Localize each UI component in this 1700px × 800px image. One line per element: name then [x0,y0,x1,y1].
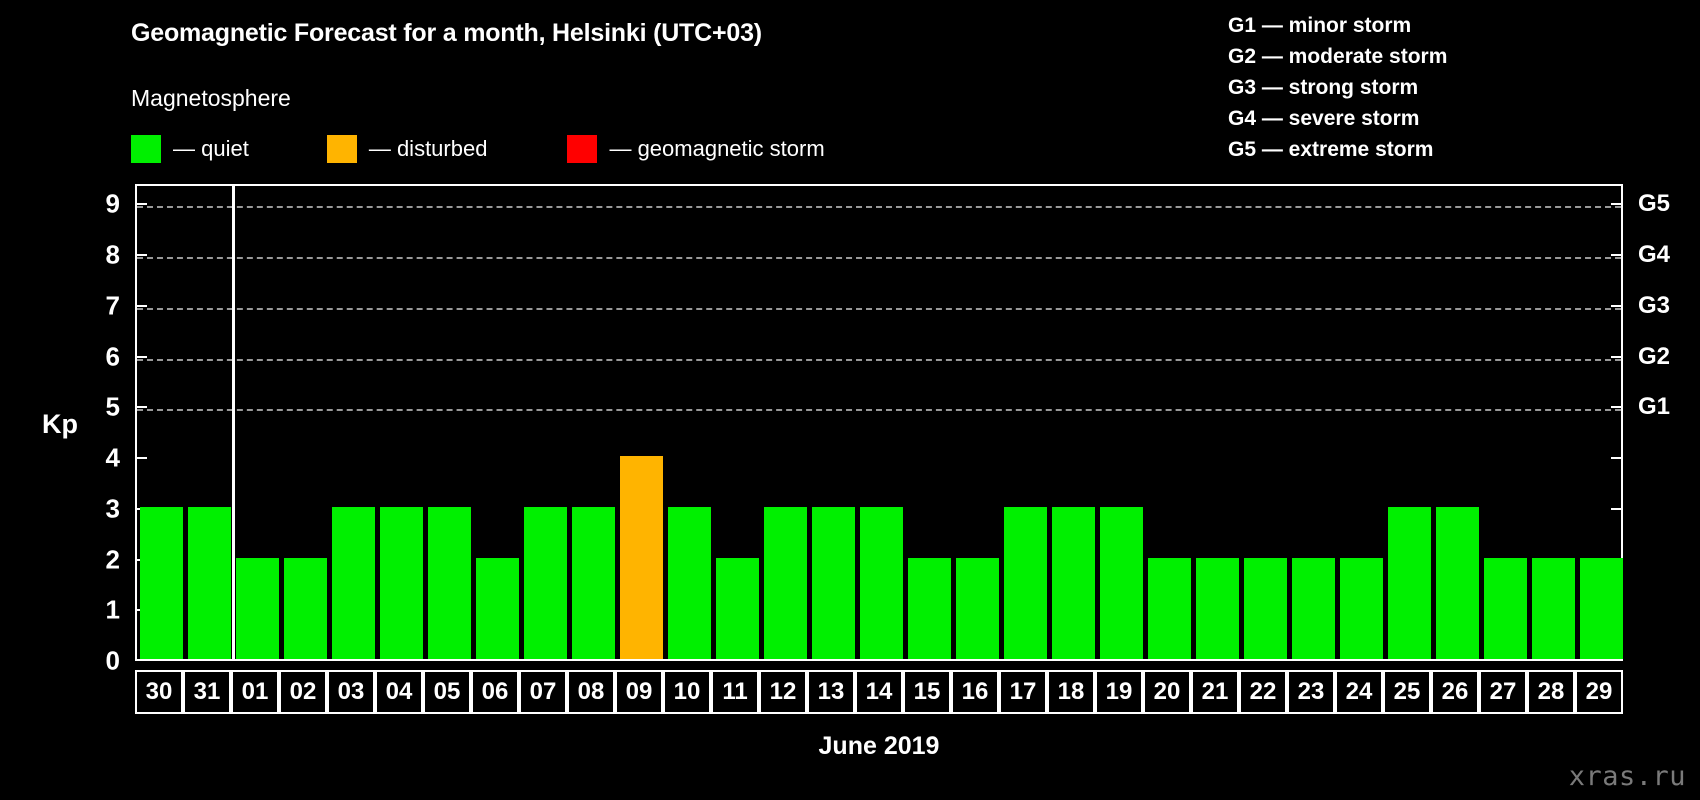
bar-day-13 [812,507,855,659]
bar-day-03 [332,507,375,659]
bar-day-26 [1436,507,1479,659]
y-axis-labels: 0123456789 [80,184,120,661]
bar-day-09 [620,456,663,659]
gscale-legend-line-1: G1 — minor storm [1228,10,1447,41]
day-cell-29: 29 [1575,670,1623,714]
y-tick-label-0: 0 [84,646,120,677]
legend-swatch-quiet [131,135,161,163]
y-tick-label-5: 5 [84,392,120,423]
gscale-legend-line-4: G4 — severe storm [1228,103,1447,134]
day-cell-27: 27 [1479,670,1527,714]
day-cell-14: 14 [855,670,903,714]
y-tick-label-9: 9 [84,189,120,220]
magnetosphere-legend: — quiet— disturbed— geomagnetic storm [131,135,825,163]
y-tick-label-2: 2 [84,544,120,575]
legend-item-disturbed: — disturbed [327,135,488,163]
day-cell-26: 26 [1431,670,1479,714]
day-cell-31: 31 [183,670,231,714]
day-cell-05: 05 [423,670,471,714]
bar-day-12 [764,507,807,659]
bar-day-01 [236,558,279,659]
day-cell-24: 24 [1335,670,1383,714]
day-cell-11: 11 [711,670,759,714]
legend-label-geomagnetic-storm: — geomagnetic storm [609,136,824,162]
g-axis-labels: G1G2G3G4G5 [1638,184,1698,661]
day-cell-03: 03 [327,670,375,714]
day-cell-22: 22 [1239,670,1287,714]
page-title: Geomagnetic Forecast for a month, Helsin… [131,19,762,48]
legend-swatch-disturbed [327,135,357,163]
day-cell-30: 30 [135,670,183,714]
legend-label-quiet: — quiet [173,136,249,162]
bar-day-28 [1532,558,1575,659]
plot-area [135,184,1623,661]
bar-day-11 [716,558,759,659]
bar-day-07 [524,507,567,659]
g-tick-label-G3: G3 [1638,292,1670,320]
bar-day-17 [1004,507,1047,659]
bar-day-30 [140,507,183,659]
day-cell-09: 09 [615,670,663,714]
g-tick-label-G4: G4 [1638,241,1670,269]
legend-item-geomagnetic-storm: — geomagnetic storm [567,135,824,163]
watermark: xras.ru [1569,761,1686,792]
y-tick-label-4: 4 [84,443,120,474]
bar-day-29 [1580,558,1623,659]
gscale-legend-line-5: G5 — extreme storm [1228,134,1447,165]
y-tick-label-8: 8 [84,240,120,271]
day-cell-06: 06 [471,670,519,714]
y-axis-title: Kp [42,409,78,440]
bar-day-22 [1244,558,1287,659]
y-tick-label-6: 6 [84,341,120,372]
bar-day-08 [572,507,615,659]
bar-day-20 [1148,558,1191,659]
x-axis-title: June 2019 [135,732,1623,761]
chart-root: Geomagnetic Forecast for a month, Helsin… [0,0,1700,800]
legend-label-disturbed: — disturbed [369,136,488,162]
day-cell-19: 19 [1095,670,1143,714]
bar-day-15 [908,558,951,659]
g-tick-label-G5: G5 [1638,190,1670,218]
day-cell-28: 28 [1527,670,1575,714]
legend-item-quiet: — quiet [131,135,249,163]
day-cell-07: 07 [519,670,567,714]
bar-day-04 [380,507,423,659]
y-tick-label-3: 3 [84,493,120,524]
day-cell-01: 01 [231,670,279,714]
day-cell-15: 15 [903,670,951,714]
bar-day-10 [668,507,711,659]
bar-day-06 [476,558,519,659]
day-cell-04: 04 [375,670,423,714]
bar-day-05 [428,507,471,659]
legend-swatch-geomagnetic-storm [567,135,597,163]
bars-layer [137,186,1621,659]
bar-day-23 [1292,558,1335,659]
bar-day-02 [284,558,327,659]
gscale-legend: G1 — minor stormG2 — moderate stormG3 — … [1228,10,1447,165]
bar-day-18 [1052,507,1095,659]
day-cell-20: 20 [1143,670,1191,714]
day-cell-25: 25 [1383,670,1431,714]
bar-day-19 [1100,507,1143,659]
day-cell-13: 13 [807,670,855,714]
day-cell-23: 23 [1287,670,1335,714]
day-cell-21: 21 [1191,670,1239,714]
bar-day-21 [1196,558,1239,659]
gscale-legend-line-3: G3 — strong storm [1228,72,1447,103]
x-axis-day-cells: 3031010203040506070809101112131415161718… [135,670,1623,714]
day-cell-08: 08 [567,670,615,714]
day-cell-02: 02 [279,670,327,714]
g-tick-label-G2: G2 [1638,343,1670,371]
bar-day-31 [188,507,231,659]
legend-heading: Magnetosphere [131,85,291,112]
day-cell-18: 18 [1047,670,1095,714]
day-cell-16: 16 [951,670,999,714]
bar-day-27 [1484,558,1527,659]
bar-day-16 [956,558,999,659]
gscale-legend-line-2: G2 — moderate storm [1228,41,1447,72]
bar-day-24 [1340,558,1383,659]
bar-day-25 [1388,507,1431,659]
day-cell-10: 10 [663,670,711,714]
g-tick-label-G1: G1 [1638,393,1670,421]
day-cell-17: 17 [999,670,1047,714]
y-tick-label-1: 1 [84,595,120,626]
bar-day-14 [860,507,903,659]
y-tick-label-7: 7 [84,290,120,321]
day-cell-12: 12 [759,670,807,714]
